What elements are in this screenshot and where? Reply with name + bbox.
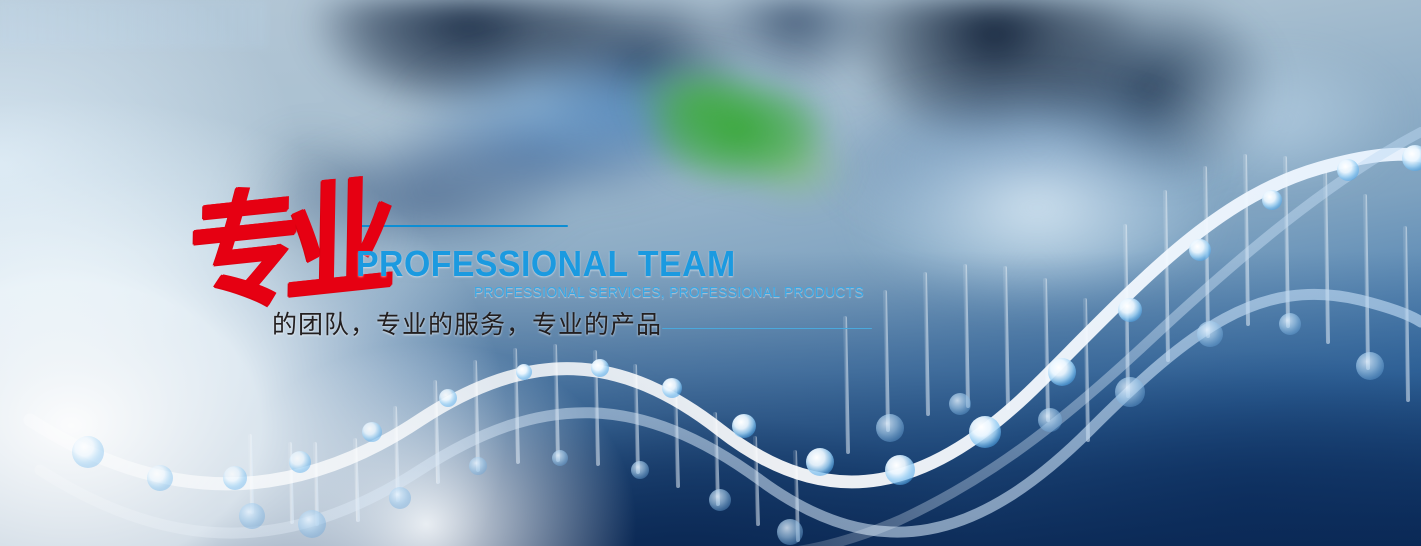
calligraphy-seal-text: 专业 (187, 177, 357, 375)
banner-text-block: 专业 PROFESSIONAL TEAM PROFESSIONAL SERVIC… (0, 0, 1421, 546)
banner-chinese-tagline: 的团队，专业的服务，专业的产品 (272, 305, 662, 341)
banner-headline: PROFESSIONAL TEAM (356, 243, 736, 285)
hero-banner: 专业 PROFESSIONAL TEAM PROFESSIONAL SERVIC… (0, 0, 1421, 546)
bottom-divider-rule (662, 328, 872, 329)
banner-subheadline: PROFESSIONAL SERVICES, PROFESSIONAL PROD… (474, 285, 864, 301)
top-divider-rule (355, 225, 568, 227)
